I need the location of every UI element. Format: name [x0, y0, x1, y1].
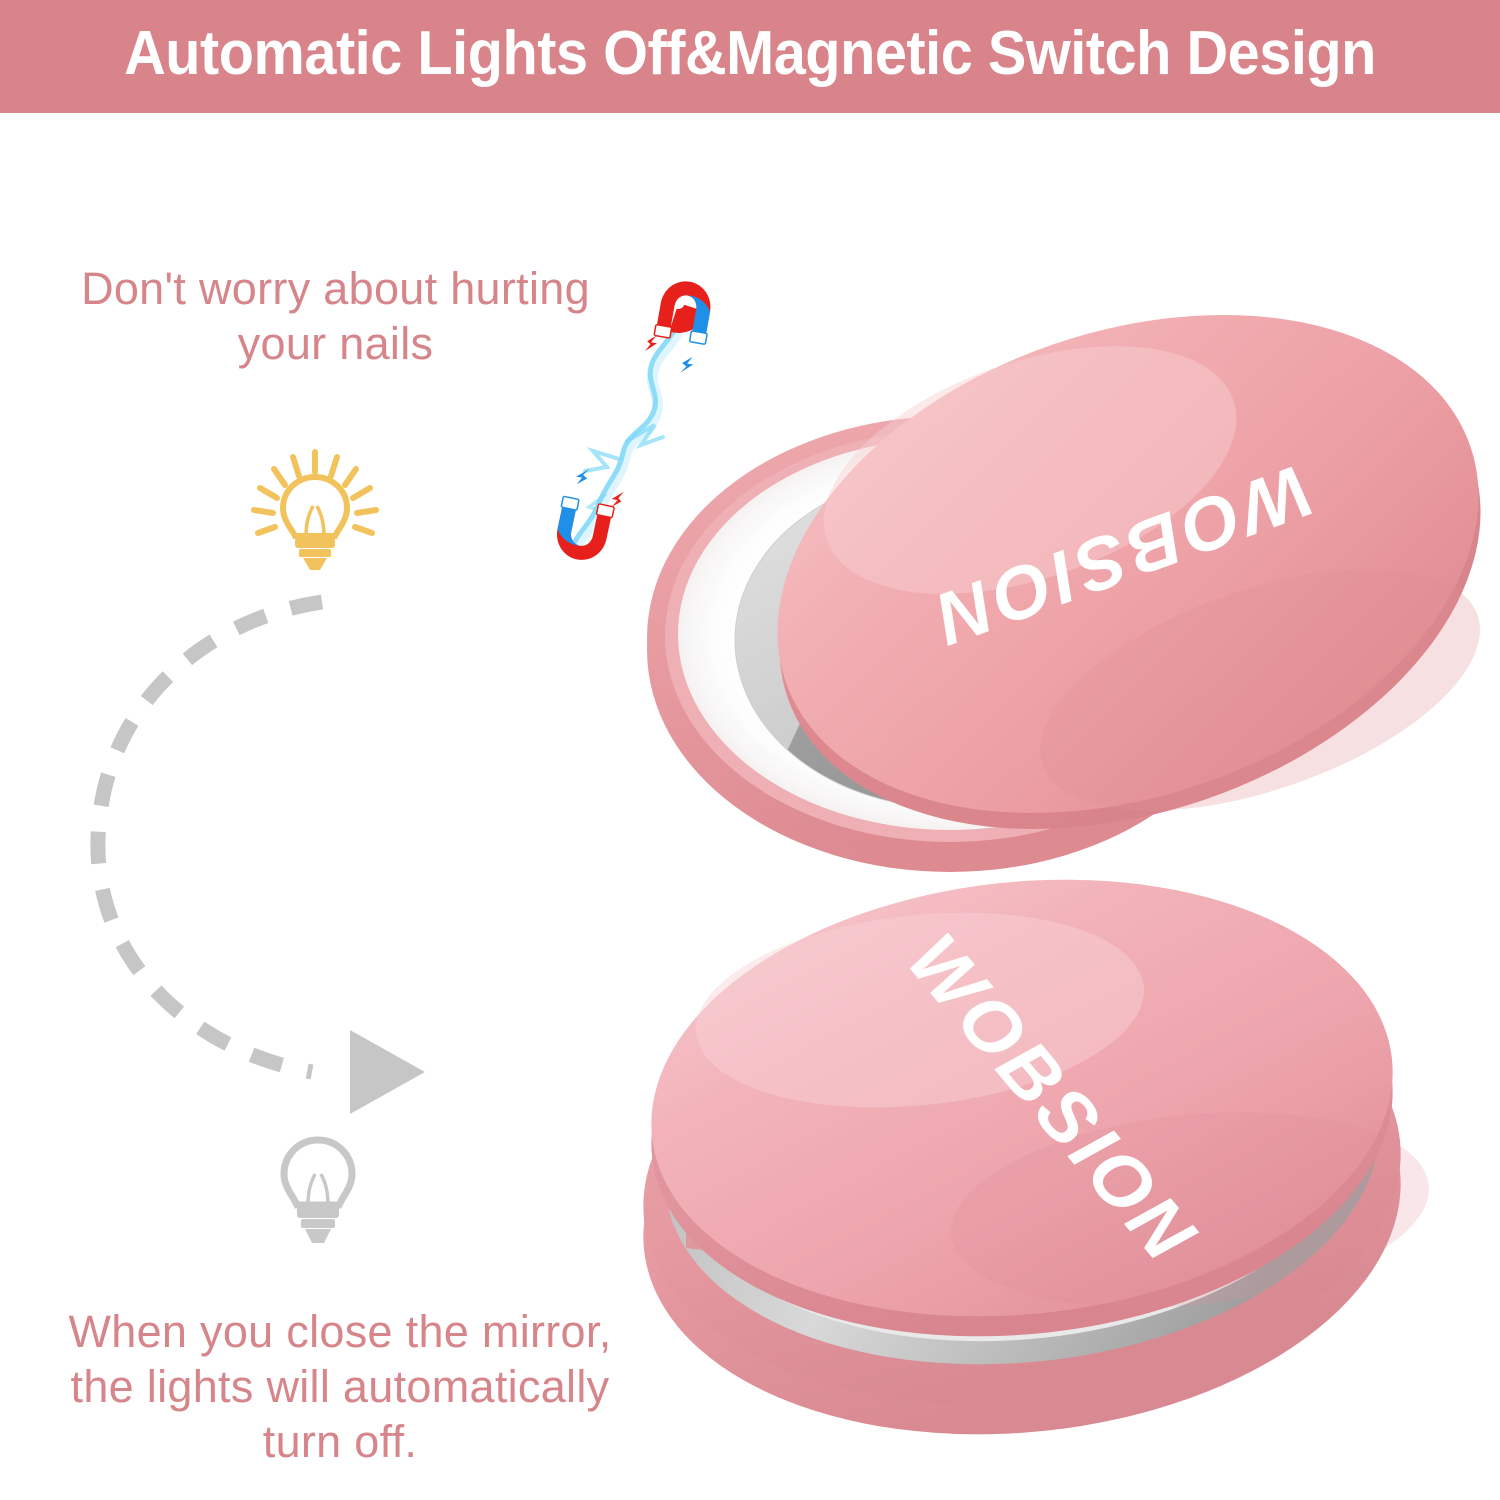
lightbulb-off-icon	[272, 1136, 364, 1248]
curved-dashed-arrow-icon	[50, 560, 470, 1130]
header-banner: Automatic Lights Off&Magnetic Switch Des…	[0, 0, 1500, 113]
closed-compact-mirror: WOBSION	[590, 880, 1470, 1470]
caption-auto-off: When you close the mirror, the lights wi…	[40, 1305, 640, 1470]
page-title: Automatic Lights Off&Magnetic Switch Des…	[124, 18, 1376, 89]
lightbulb-on-icon	[248, 448, 383, 573]
open-compact-mirror: WOBSION	[600, 150, 1480, 880]
